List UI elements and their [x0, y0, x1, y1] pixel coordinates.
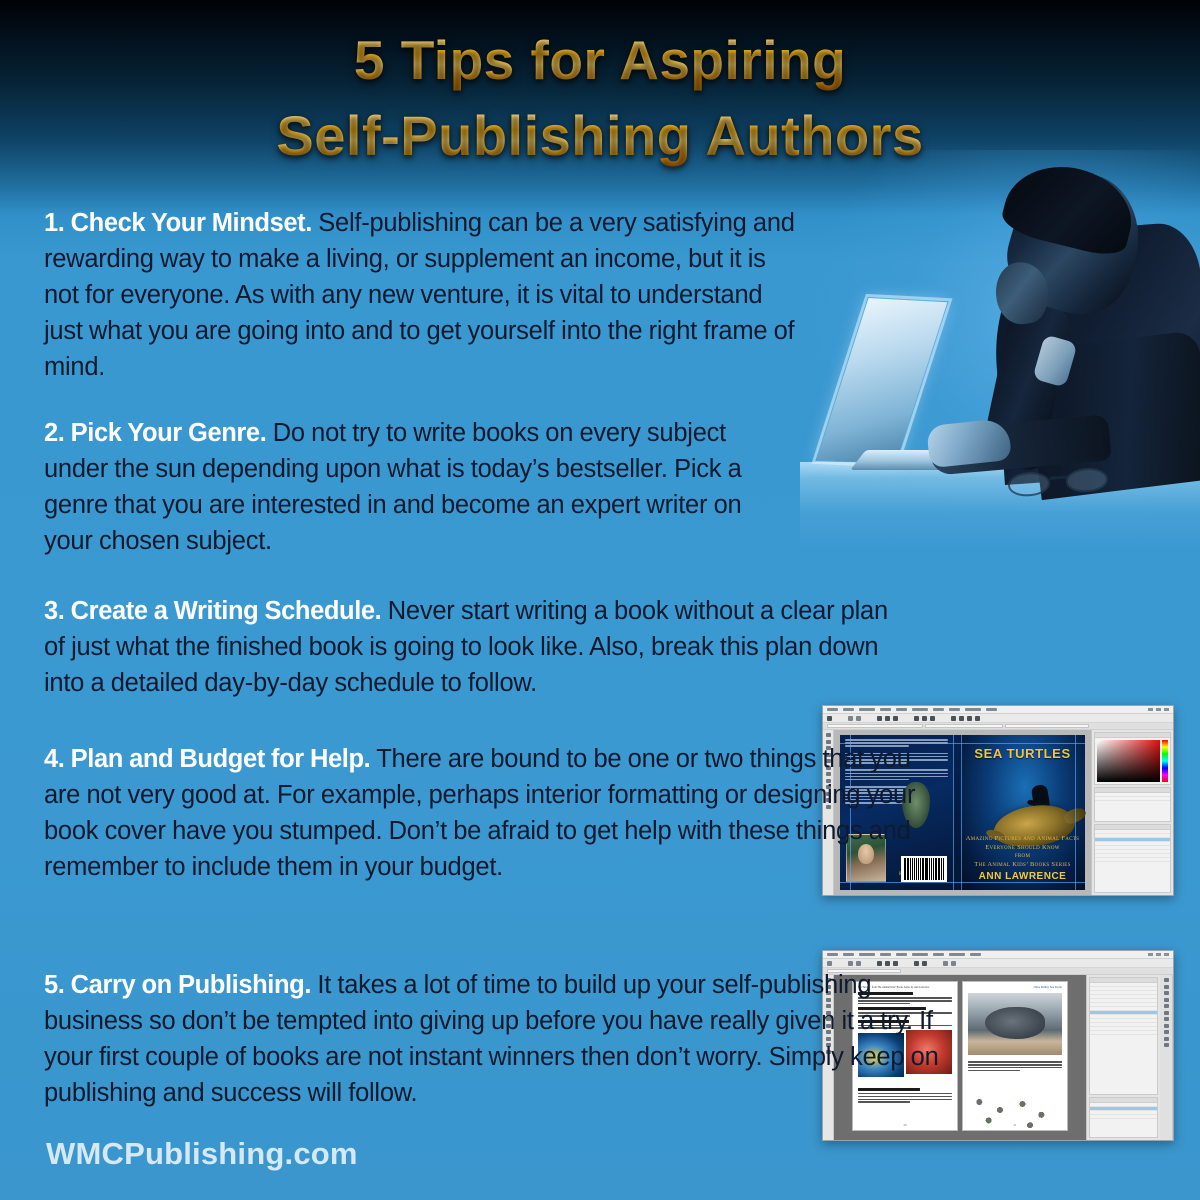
- ps-tool-option[interactable]: [975, 716, 980, 721]
- tip-3-lead: 3. Create a Writing Schedule.: [44, 597, 381, 625]
- window-controls[interactable]: [1148, 708, 1169, 711]
- tip-4-paragraph: 4. Plan and Budget for Help. There are b…: [44, 741, 944, 885]
- links-panel-icon[interactable]: [1164, 991, 1169, 995]
- minimize-icon[interactable]: [1148, 708, 1153, 711]
- cover-title: SEA TURTLES: [974, 746, 1070, 761]
- page-right-folio: 21: [963, 1123, 1067, 1127]
- cover-subtitle-4: The Animal Kids’ Books Series: [960, 861, 1085, 870]
- id-panel-dock-icons: [1160, 975, 1173, 1140]
- tips-list: 1. Check Your Mindset. Self-publishing c…: [44, 205, 964, 1135]
- tip-item-3: 3. Create a Writing Schedule. Never star…: [44, 593, 914, 701]
- tip-item-4: 4. Plan and Budget for Help. There are b…: [44, 741, 944, 885]
- image-caption: [968, 1135, 1062, 1138]
- effects-panel-icon[interactable]: [1164, 1017, 1169, 1021]
- pages-panel-icon[interactable]: [1164, 978, 1169, 982]
- body-line: [968, 1070, 1020, 1071]
- panel-row[interactable]: [1095, 797, 1170, 801]
- ps-panels-column: [1091, 730, 1173, 895]
- website-label[interactable]: WMCPublishing.com: [46, 1136, 358, 1171]
- title-line-2: Self-Publishing Authors: [0, 98, 1200, 174]
- ps-menu-item[interactable]: [986, 708, 997, 711]
- id-menu-item[interactable]: [970, 953, 981, 956]
- id-panels-column: [1086, 975, 1160, 1140]
- swatches-panel-icon[interactable]: [1164, 1011, 1169, 1015]
- tip-1-lead: 1. Check Your Mindset.: [44, 209, 312, 237]
- maximize-icon[interactable]: [1156, 953, 1161, 956]
- style-row[interactable]: [1090, 1115, 1157, 1119]
- tip-5-paragraph: 5. Carry on Publishing. It takes a lot o…: [44, 967, 964, 1111]
- tip-item-2: 2. Pick Your Genre. Do not try to write …: [44, 415, 794, 559]
- style-row[interactable]: [1090, 1031, 1157, 1035]
- tip-3-paragraph: 3. Create a Writing Schedule. Never star…: [44, 593, 914, 701]
- footer: WMCPublishing.com: [46, 1136, 358, 1172]
- title-line-1: 5 Tips for Aspiring: [0, 22, 1200, 98]
- glasses-left-lens: [1007, 471, 1051, 498]
- color-panel-icon[interactable]: [1164, 1004, 1169, 1008]
- ps-properties-panel[interactable]: [1094, 787, 1171, 822]
- tip-5-lead: 5. Carry on Publishing.: [44, 971, 311, 999]
- page-right[interactable]: Olive Ridley Sea Turtle 21: [962, 981, 1068, 1131]
- page-right-runhead: Olive Ridley Sea Turtle: [1034, 985, 1062, 989]
- cover-subtitle-1: Amazing Pictures and Animal Facts: [960, 835, 1085, 844]
- leatherback-turtle-photo: [968, 993, 1062, 1055]
- minimize-icon[interactable]: [1148, 953, 1153, 956]
- ps-color-panel[interactable]: [1094, 732, 1171, 785]
- object-styles-panel-icon[interactable]: [1164, 1024, 1169, 1028]
- cover-subtitle-block: Amazing Pictures and Animal Facts Everyo…: [960, 835, 1085, 882]
- tip-2-paragraph: 2. Pick Your Genre. Do not try to write …: [44, 415, 794, 559]
- glasses-right-lens: [1065, 467, 1109, 494]
- maximize-icon[interactable]: [1156, 708, 1161, 711]
- ps-document-tab[interactable]: [1005, 724, 1089, 728]
- cover-subtitle-2: Everyone Should Know: [960, 844, 1085, 853]
- body-line: [968, 1061, 1062, 1062]
- text-wrap-panel-icon[interactable]: [1164, 1037, 1169, 1041]
- cover-author-name: ANN LAWRENCE: [960, 871, 1085, 882]
- layers-panel-icon[interactable]: [1164, 985, 1169, 989]
- stroke-panel-icon[interactable]: [1164, 998, 1169, 1002]
- tip-4-lead: 4. Plan and Budget for Help.: [44, 745, 370, 773]
- body-line: [968, 1067, 1062, 1068]
- layer-row[interactable]: [1095, 858, 1170, 862]
- id-character-styles-panel[interactable]: [1089, 1097, 1158, 1138]
- ps-tool-option[interactable]: [967, 716, 972, 721]
- infographic-canvas: 5 Tips for Aspiring Self-Publishing Auth…: [0, 0, 1200, 1200]
- tip-2-lead: 2. Pick Your Genre.: [44, 419, 266, 447]
- body-line: [968, 1064, 1062, 1065]
- book-front-cover: SEA TURTLES Amazing Pictures and Animal …: [960, 735, 1085, 890]
- color-field[interactable]: [1097, 740, 1160, 782]
- page-title: 5 Tips for Aspiring Self-Publishing Auth…: [0, 22, 1200, 174]
- hue-slider[interactable]: [1162, 740, 1168, 782]
- window-controls[interactable]: [1148, 953, 1169, 956]
- ps-menu-item[interactable]: [965, 708, 981, 711]
- tip-item-5: 5. Carry on Publishing. It takes a lot o…: [44, 967, 964, 1111]
- align-panel-icon[interactable]: [1164, 1030, 1169, 1034]
- ps-layers-panel[interactable]: [1094, 824, 1171, 893]
- info-panel-icon[interactable]: [1164, 1043, 1169, 1047]
- tip-item-1: 1. Check Your Mindset. Self-publishing c…: [44, 205, 804, 385]
- id-paragraph-styles-panel[interactable]: [1089, 977, 1158, 1095]
- tip-1-paragraph: 1. Check Your Mindset. Self-publishing c…: [44, 205, 804, 385]
- close-icon[interactable]: [1164, 953, 1169, 956]
- close-icon[interactable]: [1164, 708, 1169, 711]
- cover-subtitle-3: from: [960, 852, 1085, 861]
